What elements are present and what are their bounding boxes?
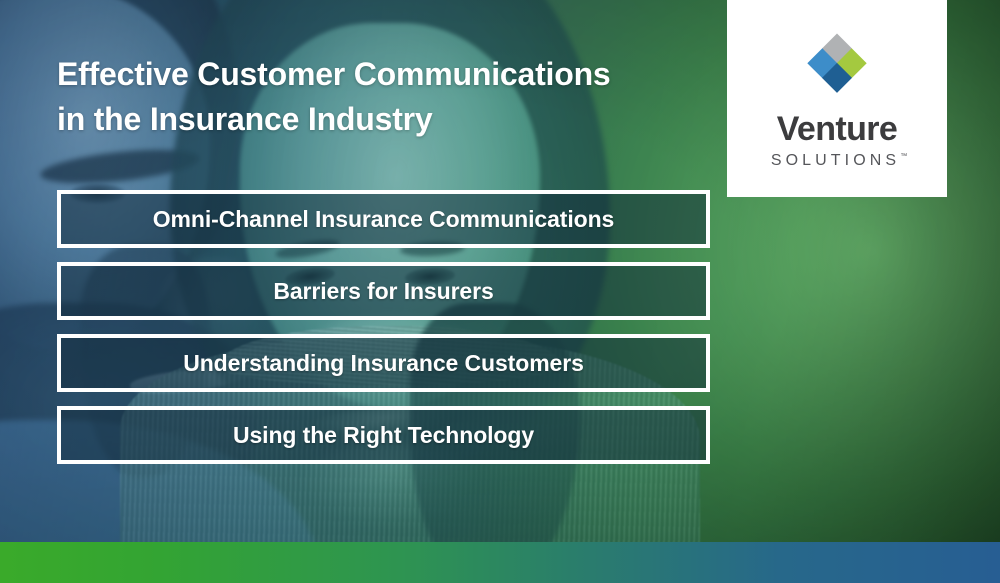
trademark-icon: ™	[900, 153, 907, 160]
menu-button-label: Omni-Channel Insurance Communications	[153, 206, 614, 233]
bottom-accent-bar	[0, 542, 1000, 583]
menu-button-using-the-right-technology[interactable]: Using the Right Technology	[57, 406, 710, 464]
venture-diamond-logo-icon	[805, 32, 869, 102]
menu-button-list: Omni-Channel Insurance Communications Ba…	[57, 190, 710, 464]
menu-button-label: Using the Right Technology	[233, 422, 534, 449]
menu-button-label: Barriers for Insurers	[273, 278, 493, 305]
page-title: Effective Customer Communications in the…	[57, 52, 717, 142]
page-title-line-1: Effective Customer Communications	[57, 52, 717, 97]
menu-button-omni-channel-insurance-communications[interactable]: Omni-Channel Insurance Communications	[57, 190, 710, 248]
slide-root: Effective Customer Communications in the…	[0, 0, 1000, 583]
page-title-line-2: in the Insurance Industry	[57, 97, 717, 142]
menu-button-barriers-for-insurers[interactable]: Barriers for Insurers	[57, 262, 710, 320]
logo-wordmark: Venture	[777, 112, 898, 146]
menu-button-understanding-insurance-customers[interactable]: Understanding Insurance Customers	[57, 334, 710, 392]
logo-subtitle: SOLUTIONS	[771, 152, 900, 169]
menu-button-label: Understanding Insurance Customers	[183, 350, 584, 377]
venture-solutions-logo[interactable]: Venture SOLUTIONS™	[727, 0, 947, 197]
logo-subtitle-wrap: SOLUTIONS™	[767, 153, 907, 169]
